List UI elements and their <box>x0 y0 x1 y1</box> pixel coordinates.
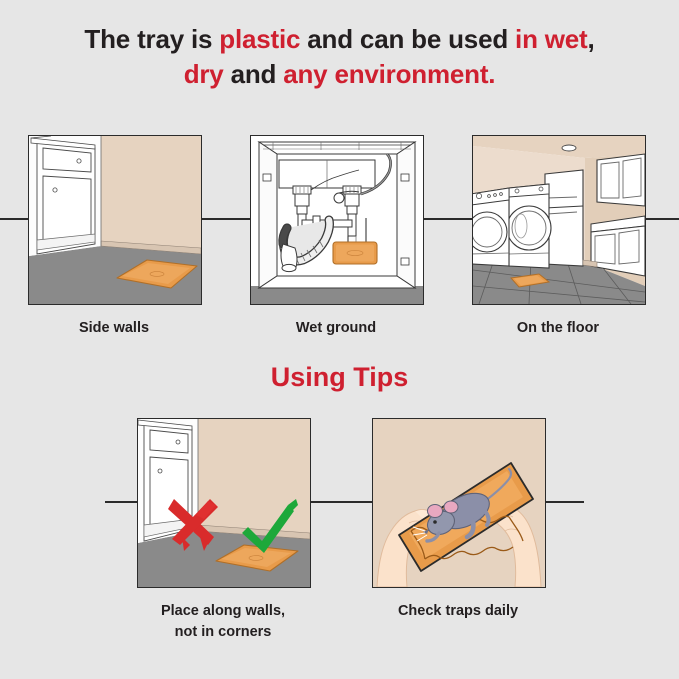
caption-line-2: not in corners <box>117 622 329 643</box>
headline-highlight-plastic: plastic <box>219 24 300 54</box>
glue-tray-2 <box>333 242 377 264</box>
connector-line-5 <box>544 501 584 503</box>
page-headline: The tray is plastic and can be used in w… <box>0 22 679 92</box>
headline-highlight-in-wet: in wet <box>515 24 587 54</box>
infographic-page: The tray is plastic and can be used in w… <box>0 0 679 679</box>
scene-on-the-floor <box>473 136 645 304</box>
panel-check-traps-daily <box>372 418 546 588</box>
caption-side-walls: Side walls <box>28 318 200 339</box>
panel-on-the-floor <box>472 135 646 305</box>
headline-text-3: , <box>588 24 595 54</box>
caption-line-1: Place along walls, <box>117 601 329 622</box>
caption-on-the-floor: On the floor <box>472 318 644 339</box>
caption-wet-ground: Wet ground <box>250 318 422 339</box>
caption-check-traps-daily: Check traps daily <box>362 601 554 622</box>
headline-text-4: and <box>224 59 284 89</box>
scene-check-traps-daily <box>373 419 545 587</box>
section-title-using-tips: Using Tips <box>0 362 679 393</box>
connector-line-left <box>0 218 28 220</box>
panel-place-along-walls <box>137 418 311 588</box>
headline-text-2: and can be used <box>300 24 515 54</box>
connector-line-4 <box>309 501 372 503</box>
headline-highlight-any-env: any environment. <box>283 59 495 89</box>
connector-line-1 <box>200 218 250 220</box>
panel-side-walls <box>28 135 202 305</box>
connector-line-2 <box>422 218 472 220</box>
connector-line-3 <box>105 501 137 503</box>
connector-line-right <box>644 218 679 220</box>
scene-wet-ground <box>251 136 423 304</box>
scene-side-walls <box>29 136 201 304</box>
scene-place-along-walls <box>138 419 310 587</box>
panel-wet-ground <box>250 135 424 305</box>
headline-highlight-dry: dry <box>184 59 224 89</box>
headline-text-1: The tray is <box>84 24 219 54</box>
caption-place-along-walls: Place along walls, not in corners <box>117 601 329 643</box>
